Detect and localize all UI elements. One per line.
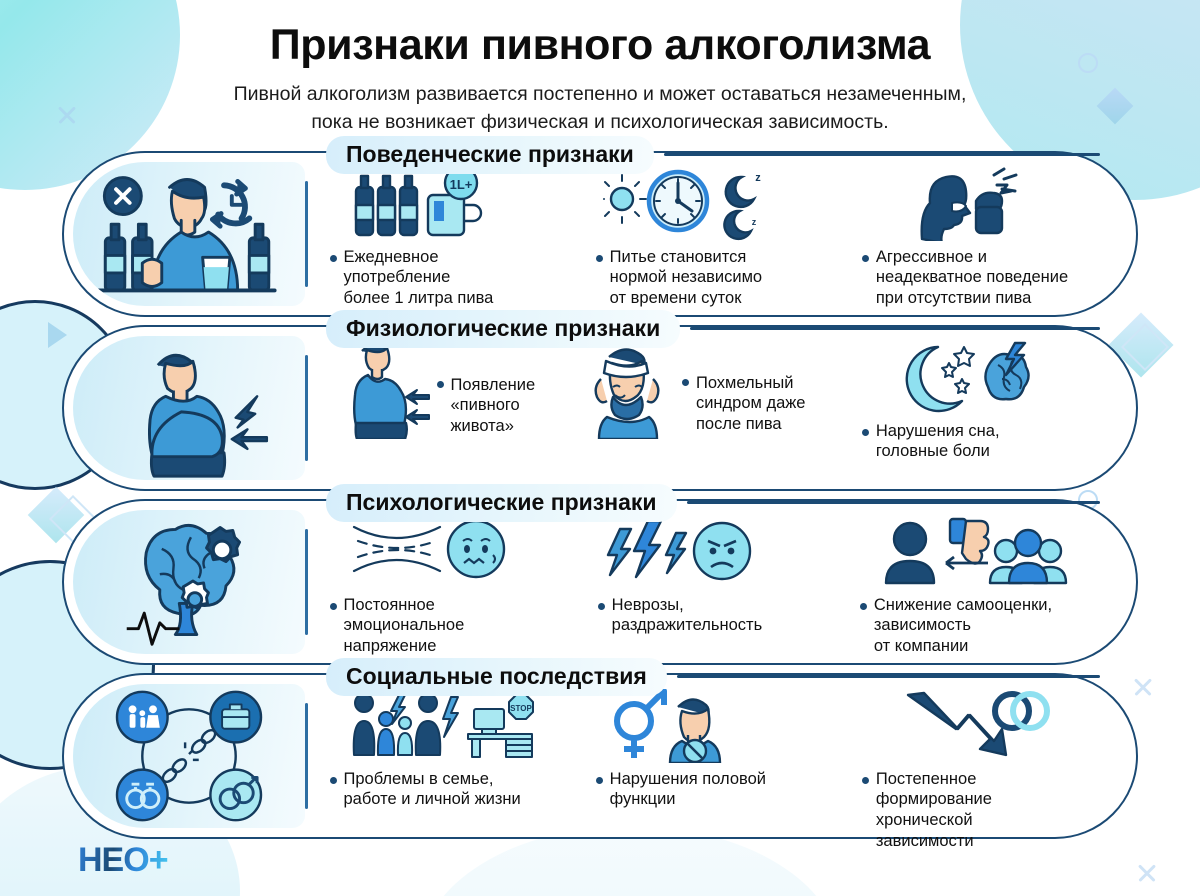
beer-belly-arrows-icon: [330, 341, 430, 439]
item-chronic-dependence: Постепенное формирование хронической зав…: [856, 689, 1122, 852]
subtitle-line-1: Пивной алкоголизм развивается постепенно…: [0, 81, 1200, 109]
bullet-aggressive-behavior: Агрессивное и неадекватное поведение при…: [862, 247, 1116, 309]
item-beer-belly: Появление «пивного живота»: [324, 341, 577, 439]
bullet-family-problems: Проблемы в семье, работе и личной жизни: [330, 769, 584, 811]
item-neurosis: Неврозы, раздражительность: [592, 515, 860, 637]
logo-plus: +: [149, 841, 168, 880]
downward-arrow-rings-icon: [862, 689, 1116, 763]
bullet-dot: [862, 777, 869, 784]
section-title-psychological[interactable]: Психологические признаки: [326, 484, 677, 522]
bullet-dot: [862, 255, 869, 262]
hero-illustration-psychological: [73, 510, 305, 654]
item-text: Нарушения сна, головные боли: [876, 421, 1000, 463]
item-text: Похмельный синдром даже после пива: [696, 373, 806, 435]
item-text: Ежедневное употребление более 1 литра пи…: [344, 247, 494, 309]
item-any-time-drinking: z z Питье становится нормой независимо о…: [590, 167, 856, 309]
section-items-behavioral: 1L+ Ежедневное употребление более 1 литр…: [308, 153, 1137, 315]
item-text: Неврозы, раздражительность: [612, 595, 763, 637]
bullet-dot: [862, 429, 869, 436]
gender-symbol-blocked-man-icon: [596, 689, 850, 763]
section-items-physiological: Появление «пивного живота»: [308, 327, 1137, 489]
bullet-low-self-esteem: Снижение самооценки, зависимость от комп…: [860, 595, 1116, 657]
section-physiological: Физиологические признаки: [62, 325, 1138, 491]
bullet-dot: [437, 381, 444, 388]
hangover-headache-man-icon: [583, 341, 675, 439]
hero-illustration-physiological: [73, 336, 305, 480]
item-text: Постоянное эмоциональное напряжение: [344, 595, 465, 657]
thumbs-down-group-pressure-icon: [860, 515, 1116, 589]
item-hangover: Похмельный синдром даже после пива: [577, 341, 856, 439]
bullet-dot: [330, 603, 337, 610]
item-aggressive-behavior: Агрессивное и неадекватное поведение при…: [856, 167, 1122, 309]
bullet-any-time-drinking: Питье становится нормой независимо от вр…: [596, 247, 850, 309]
bullet-dot: [596, 777, 603, 784]
sections-container: Поведенческие признаки: [0, 151, 1200, 839]
shouting-man-fist-icon: [862, 167, 1116, 241]
tension-worried-face-icon: [330, 515, 586, 589]
section-title-behavioral[interactable]: Поведенческие признаки: [326, 136, 654, 174]
logo-text: НЕО: [78, 841, 149, 880]
section-items-social: STOP Проблемы в семье, работе и личной ж…: [308, 675, 1137, 837]
bullet-dot: [860, 603, 867, 610]
section-title-social[interactable]: Социальные последствия: [326, 658, 667, 696]
stop-sign-label: STOP: [510, 704, 532, 713]
item-sexual-dysfunction: Нарушения половой функции: [590, 689, 856, 811]
bullet-dot: [682, 379, 689, 386]
lightning-angry-face-icon: [598, 515, 854, 589]
section-items-psychological: Постоянное эмоциональное напряжение: [308, 501, 1137, 663]
item-daily-consumption: 1L+ Ежедневное употребление более 1 литр…: [324, 167, 590, 309]
three-bottles-and-mug-1L-icon: 1L+: [330, 167, 584, 241]
section-social: Социальные последствия: [62, 673, 1138, 839]
man-with-beer-bottles-icon: [73, 162, 305, 306]
broken-chain-circles-icon: [73, 684, 305, 828]
bullet-dot: [330, 777, 337, 784]
bullet-dot: [598, 603, 605, 610]
item-text: Появление «пивного живота»: [451, 375, 536, 437]
infographic-page: Признаки пивного алкоголизма Пивной алко…: [0, 0, 1200, 896]
bullet-dot: [596, 255, 603, 262]
moon-stars-brain-icon: [862, 341, 1116, 415]
hero-illustration-behavioral: [73, 162, 305, 306]
hero-illustration-social: [73, 684, 305, 828]
page-title: Признаки пивного алкоголизма: [0, 0, 1200, 69]
item-low-self-esteem: Снижение самооценки, зависимость от комп…: [860, 515, 1122, 657]
bullet-chronic-dependence: Постепенное формирование хронической зав…: [862, 769, 1116, 852]
item-text: Нарушения половой функции: [610, 769, 766, 811]
item-text: Агрессивное и неадекватное поведение при…: [876, 247, 1068, 309]
section-psychological: Психологические признаки: [62, 499, 1138, 665]
beer-belly-man-icon: [73, 336, 305, 480]
item-sleep-disorders: Нарушения сна, головные боли: [856, 341, 1122, 463]
bullet-daily-consumption: Ежедневное употребление более 1 литра пи…: [330, 247, 584, 309]
item-emotional-tension: Постоянное эмоциональное напряжение: [324, 515, 592, 657]
section-title-physiological[interactable]: Физиологические признаки: [326, 310, 680, 348]
family-conflict-work-stop-icon: STOP: [330, 689, 584, 763]
bullet-neurosis: Неврозы, раздражительность: [598, 595, 854, 637]
clock-sun-moon-icon: z z: [596, 167, 850, 241]
section-behavioral: Поведенческие признаки: [62, 151, 1138, 317]
svg-text:z: z: [755, 172, 761, 184]
bullet-dot: [330, 255, 337, 262]
item-text: Проблемы в семье, работе и личной жизни: [344, 769, 521, 811]
brand-logo: НЕО+: [78, 841, 168, 880]
svg-text:z: z: [751, 217, 756, 227]
brain-gears-pulse-icon: [73, 510, 305, 654]
item-text: Снижение самооценки, зависимость от комп…: [874, 595, 1052, 657]
subtitle-line-2: пока не возникает физическая и психологи…: [0, 109, 1200, 137]
bullet-emotional-tension: Постоянное эмоциональное напряжение: [330, 595, 586, 657]
item-family-problems: STOP Проблемы в семье, работе и личной ж…: [324, 689, 590, 811]
page-subtitle: Пивной алкоголизм развивается постепенно…: [0, 81, 1200, 136]
bullet-sleep-disorders: Нарушения сна, головные боли: [862, 421, 1116, 463]
badge-1L-plus: 1L+: [449, 177, 472, 192]
item-text: Постепенное формирование хронической зав…: [876, 769, 992, 852]
item-text: Питье становится нормой независимо от вр…: [610, 247, 762, 309]
bullet-sexual-dysfunction: Нарушения половой функции: [596, 769, 850, 811]
